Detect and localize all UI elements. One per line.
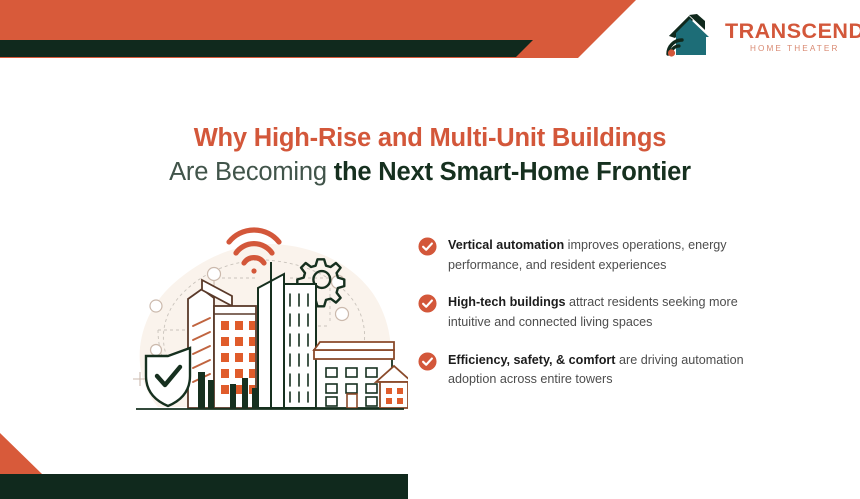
list-item: Vertical automation improves operations,… (418, 236, 758, 275)
brand-name: TRANSCEND (725, 21, 860, 43)
top-green-band (0, 40, 533, 57)
poster-canvas: TRANSCEND HOME THEATER Why High-Rise and… (0, 0, 860, 499)
check-circle-icon (418, 294, 437, 313)
smart-city-buildings-illustration (118, 222, 408, 418)
list-item-text: High-tech buildings attract residents se… (448, 293, 758, 332)
list-item-emphasis: Vertical automation (448, 238, 564, 252)
brand-tagline: HOME THEATER (750, 45, 840, 53)
page-title-line-2-bold: the Next Smart-Home Frontier (334, 158, 691, 186)
bottom-decoration-shapes (0, 419, 860, 499)
list-item-text: Vertical automation improves operations,… (448, 236, 758, 275)
page-title: Why High-Rise and Multi-Unit Buildings A… (0, 122, 860, 189)
bottom-green-bar (0, 474, 408, 499)
high-rise-building (258, 262, 316, 408)
check-circle-icon (418, 237, 437, 256)
list-item: High-tech buildings attract residents se… (418, 293, 758, 332)
brand-logo[interactable]: TRANSCEND HOME THEATER (663, 8, 853, 64)
page-title-line-1: Why High-Rise and Multi-Unit Buildings (0, 122, 860, 156)
house-wifi-logo-icon (663, 10, 719, 62)
bottom-orange-triangle (0, 433, 42, 474)
list-item-text: Efficiency, safety, & comfort are drivin… (448, 351, 758, 390)
top-orange-band (0, 0, 636, 58)
benefits-list: Vertical automation improves operations,… (418, 236, 758, 390)
list-item: Efficiency, safety, & comfort are drivin… (418, 351, 758, 390)
page-title-line-2: Are Becoming the Next Smart-Home Frontie… (0, 156, 860, 190)
page-title-line-2-light: Are Becoming (169, 158, 334, 186)
list-item-emphasis: High-tech buildings (448, 295, 566, 309)
list-item-emphasis: Efficiency, safety, & comfort (448, 353, 616, 367)
brand-logo-text: TRANSCEND HOME THEATER (725, 19, 860, 54)
check-circle-icon (418, 352, 437, 371)
